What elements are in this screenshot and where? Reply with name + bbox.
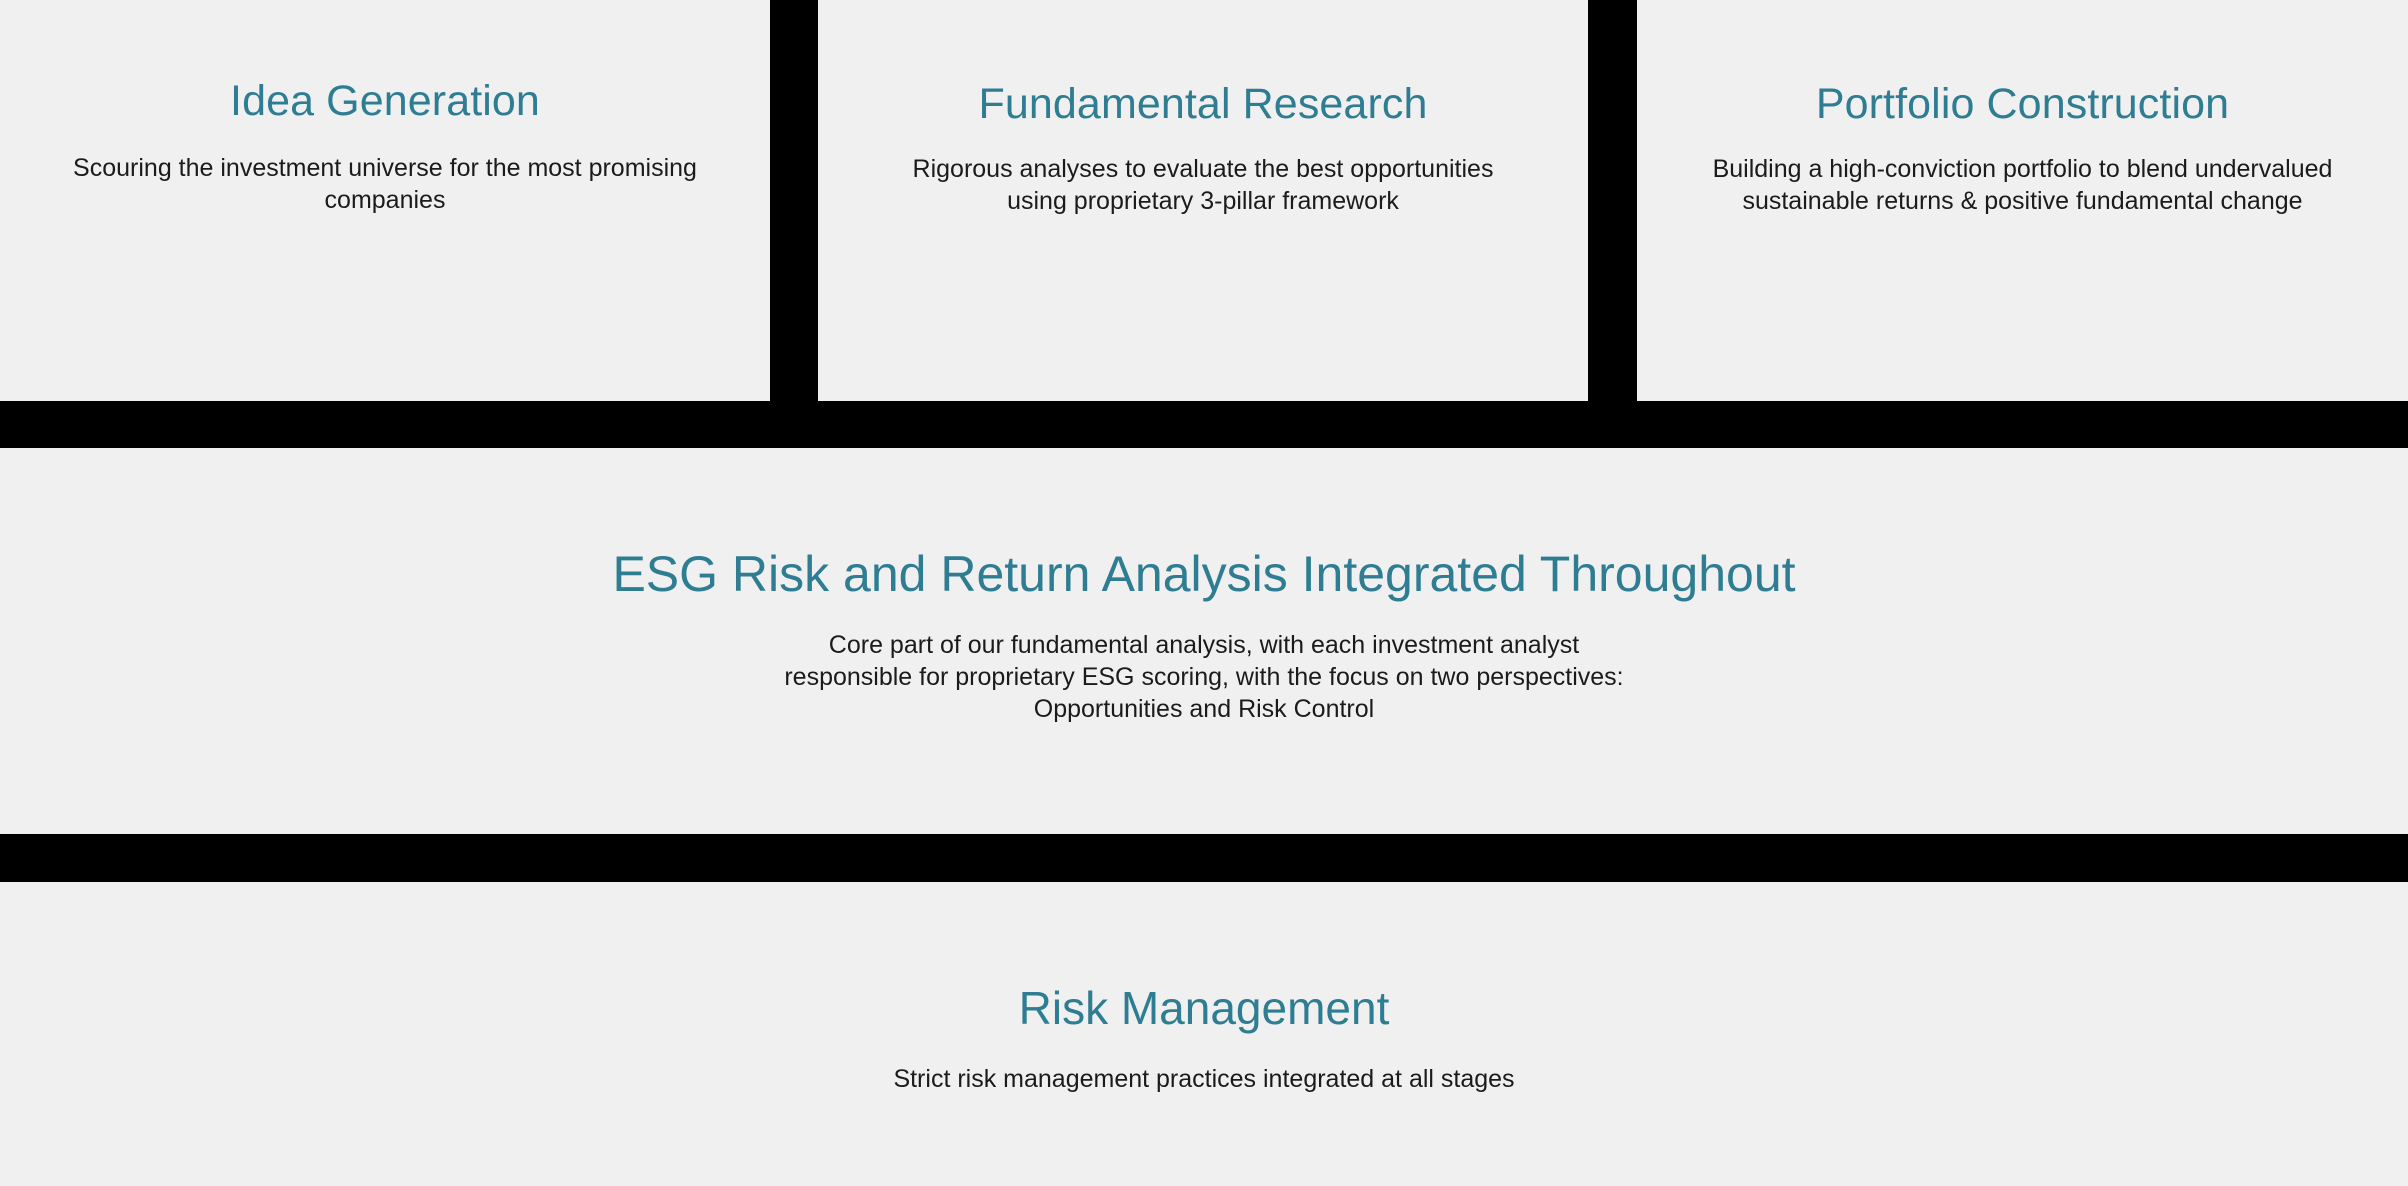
esg-panel[interactable]: ESG Risk and Return Analysis Integrated …	[0, 448, 2408, 834]
esg-title: ESG Risk and Return Analysis Integrated …	[612, 548, 1795, 601]
esg-description: Core part of our fundamental analysis, w…	[404, 629, 2004, 725]
stage-title-idea-generation: Idea Generation	[212, 79, 558, 125]
stage-description-portfolio-construction: Building a high-conviction portfolio to …	[1703, 153, 2343, 219]
stage-title-portfolio-construction: Portfolio Construction	[1798, 82, 2247, 128]
process-diagram: Idea Generation Scouring the investment …	[0, 0, 2408, 1186]
risk-management-panel[interactable]: Risk Management Strict risk management p…	[0, 882, 2408, 1186]
stage-description-fundamental-research: Rigorous analyses to evaluate the best o…	[888, 153, 1518, 219]
stage-panel-fundamental-research[interactable]: Fundamental Research Rigorous analyses t…	[818, 0, 1588, 401]
stage-panel-idea-generation[interactable]: Idea Generation Scouring the investment …	[0, 0, 770, 401]
stage-title-fundamental-research: Fundamental Research	[961, 82, 1446, 128]
stage-description-idea-generation: Scouring the investment universe for the…	[55, 152, 715, 218]
stage-panel-portfolio-construction[interactable]: Portfolio Construction Building a high-c…	[1637, 0, 2408, 401]
risk-management-title: Risk Management	[1019, 984, 1390, 1033]
risk-management-description: Strict risk management practices integra…	[893, 1063, 1514, 1096]
